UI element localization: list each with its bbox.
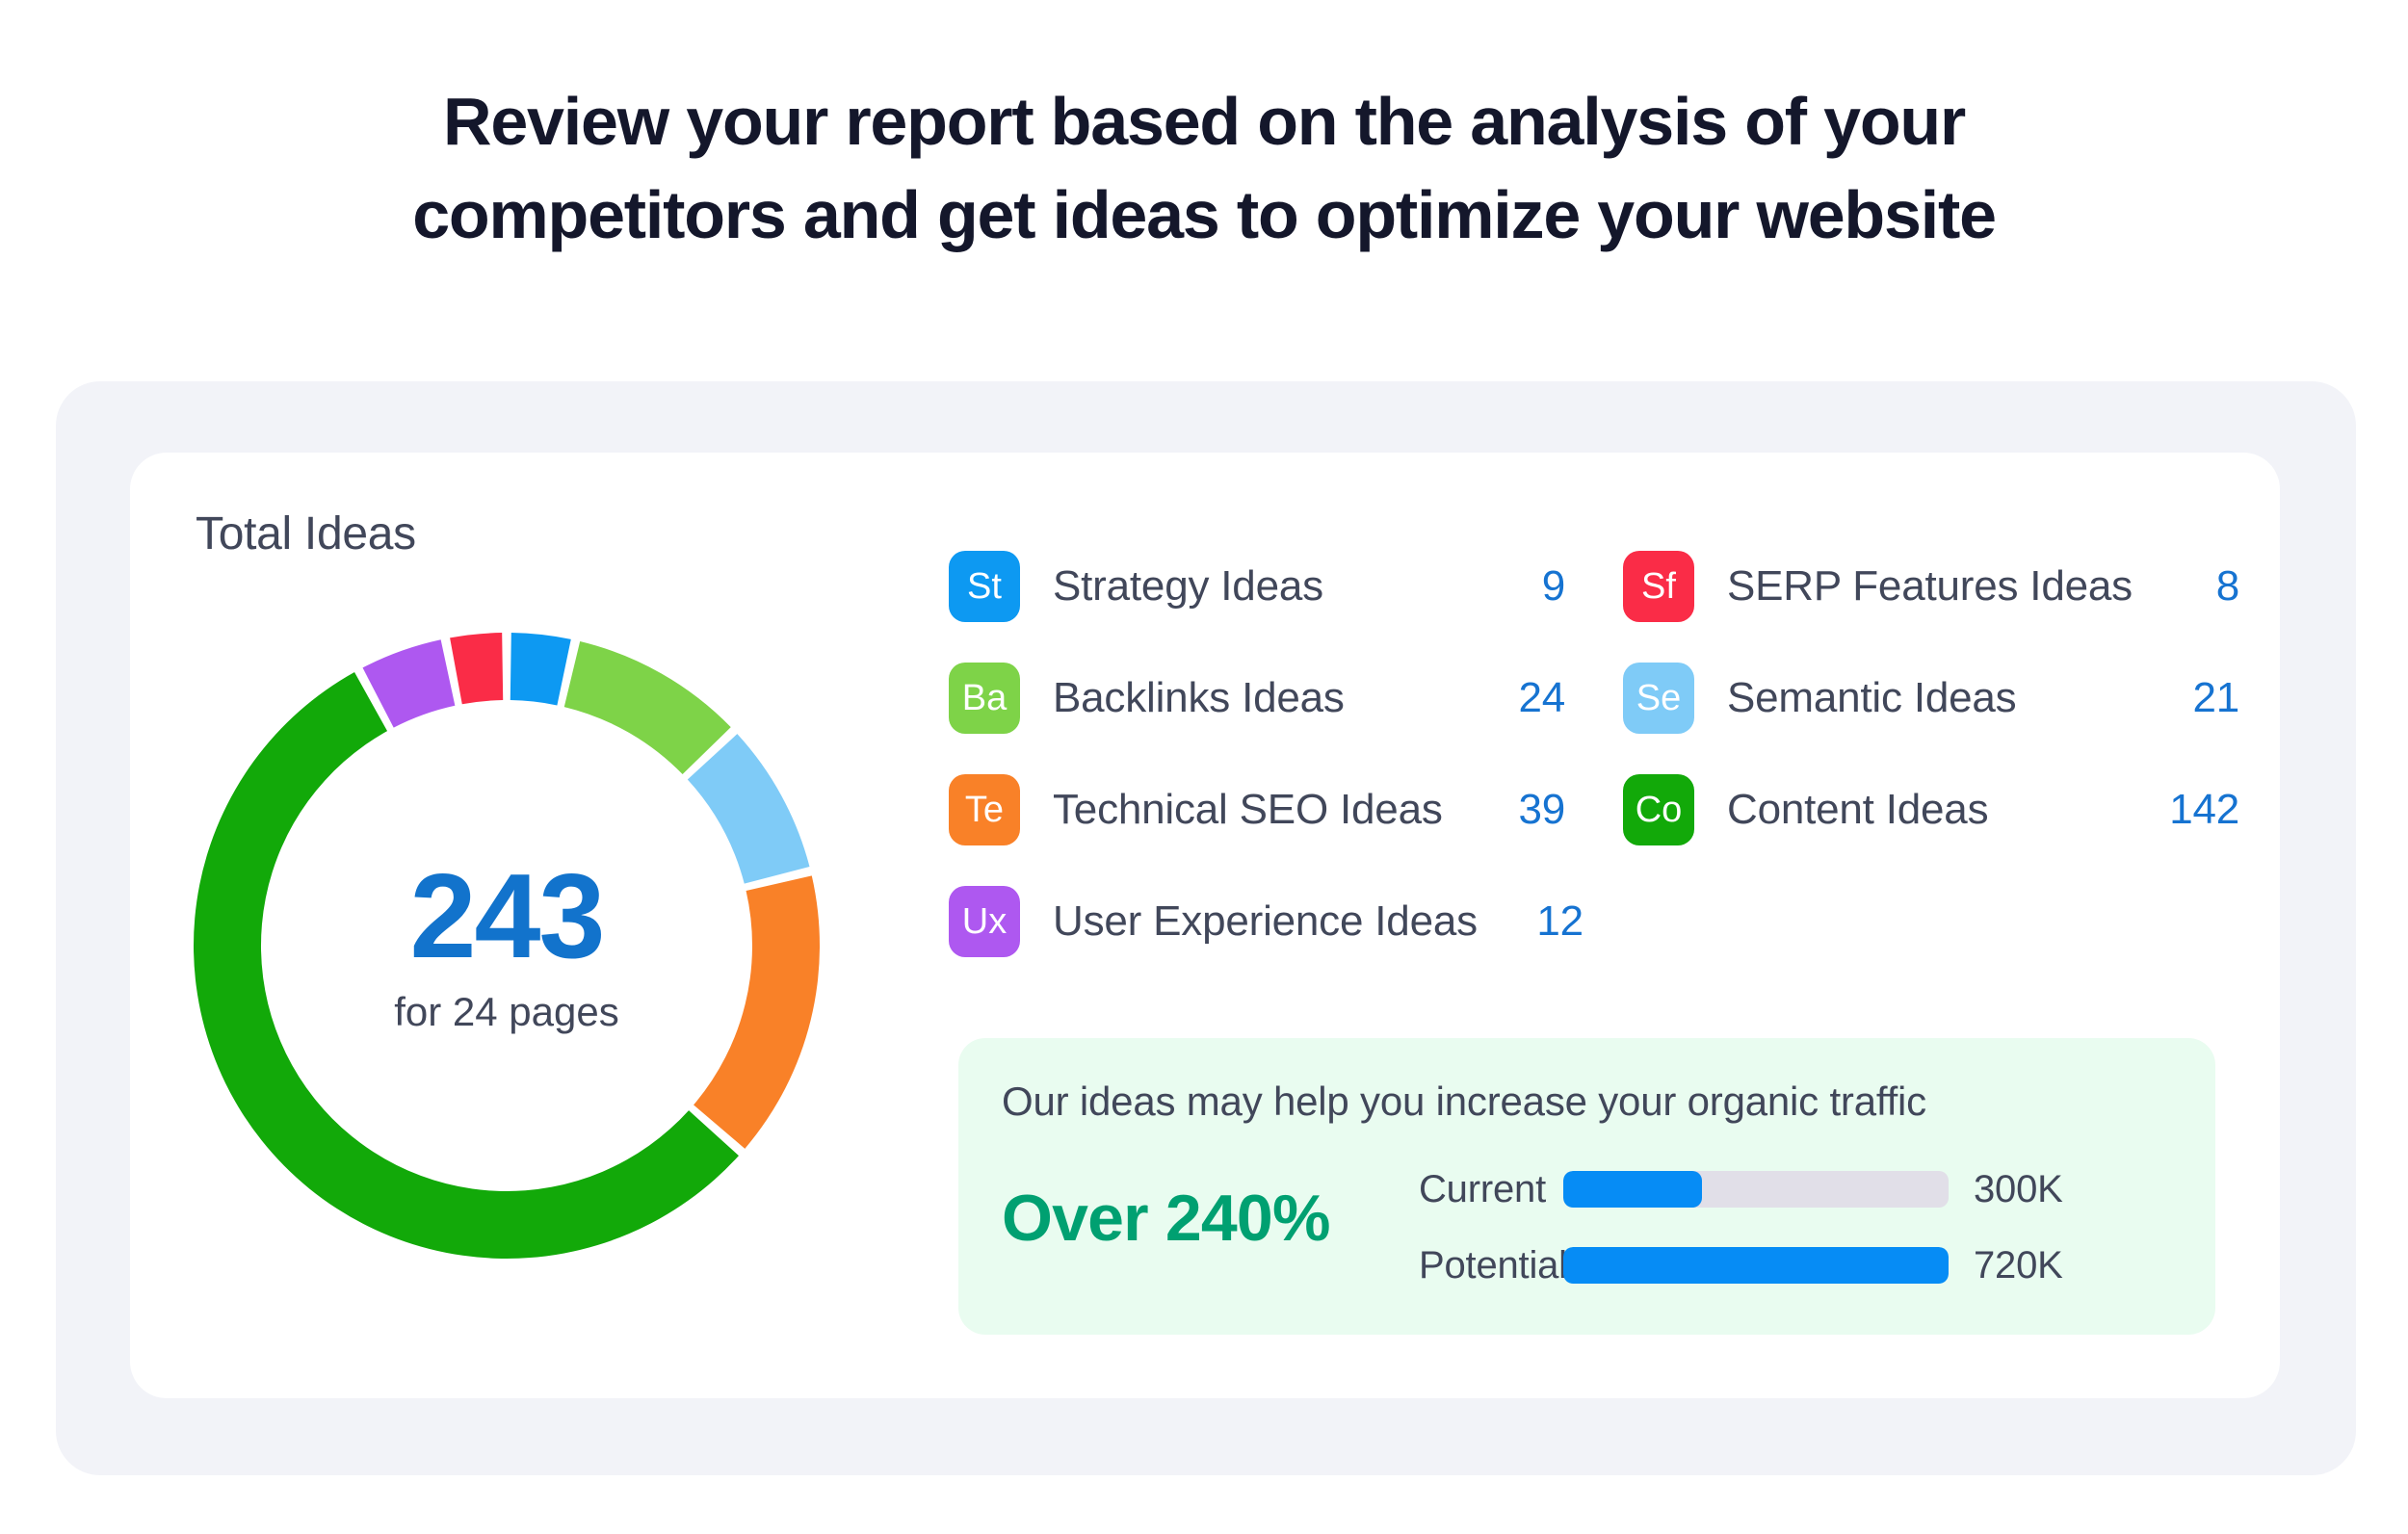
legend-label: Backlinks Ideas xyxy=(1053,674,1459,722)
page-title-line-1: Review your report based on the analysis… xyxy=(0,75,2408,169)
legend-row[interactable]: SfSERP Features Ideas8 xyxy=(1623,551,2239,622)
legend-badge-ba-icon: Ba xyxy=(949,663,1020,734)
legend-value: 8 xyxy=(2133,562,2239,611)
legend-row[interactable]: StStrategy Ideas9 xyxy=(949,551,1565,622)
donut-total-value: 243 xyxy=(410,856,604,977)
organic-traffic-panel: Our ideas may help you increase your org… xyxy=(958,1038,2215,1335)
legend-label: Strategy Ideas xyxy=(1053,562,1459,611)
legend-value: 24 xyxy=(1459,674,1565,722)
legend-row[interactable]: TeTechnical SEO Ideas39 xyxy=(949,774,1565,845)
donut-total-subtitle: for 24 pages xyxy=(394,989,619,1035)
traffic-bar-value: 720K xyxy=(1974,1244,2063,1287)
legend-value: 142 xyxy=(2133,786,2239,834)
legend-value: 39 xyxy=(1459,786,1565,834)
total-ideas-title: Total Ideas xyxy=(196,507,416,560)
legend-badge-sf-icon: Sf xyxy=(1623,551,1694,622)
traffic-bar-value: 300K xyxy=(1974,1168,2063,1211)
legend-label: Semantic Ideas xyxy=(1727,674,2133,722)
organic-traffic-bars: Current300KPotential720K xyxy=(1419,1165,2180,1289)
legend-label: SERP Features Ideas xyxy=(1727,562,2133,611)
organic-traffic-heading: Our ideas may help you increase your org… xyxy=(1002,1079,1926,1125)
traffic-bar-track xyxy=(1563,1171,1949,1208)
legend-badge-te-icon: Te xyxy=(949,774,1020,845)
donut-center-label: 243 for 24 pages xyxy=(189,628,824,1263)
traffic-bar-row: Potential720K xyxy=(1419,1241,2180,1289)
legend-row[interactable]: UxUser Experience Ideas12 xyxy=(949,886,1565,957)
organic-traffic-percent: Over 240% xyxy=(1002,1181,1330,1256)
traffic-bar-fill xyxy=(1563,1247,1949,1284)
total-ideas-donut-chart: 243 for 24 pages xyxy=(189,628,824,1263)
legend-label: Technical SEO Ideas xyxy=(1053,786,1459,834)
page-title: Review your report based on the analysis… xyxy=(0,75,2408,262)
legend-badge-st-icon: St xyxy=(949,551,1020,622)
ideas-legend: StStrategy Ideas9BaBacklinks Ideas24TeTe… xyxy=(949,551,2278,975)
traffic-bar-label: Potential xyxy=(1419,1244,1563,1287)
legend-row[interactable]: BaBacklinks Ideas24 xyxy=(949,663,1565,734)
legend-badge-ux-icon: Ux xyxy=(949,886,1020,957)
legend-row[interactable]: CoContent Ideas142 xyxy=(1623,774,2239,845)
legend-label: User Experience Ideas xyxy=(1053,897,1478,946)
legend-value: 21 xyxy=(2133,674,2239,722)
ideas-legend-column-right: SfSERP Features Ideas8SeSemantic Ideas21… xyxy=(1623,551,2239,886)
page-root: Review your report based on the analysis… xyxy=(0,0,2408,1534)
legend-value: 12 xyxy=(1478,897,1584,946)
legend-row[interactable]: SeSemantic Ideas21 xyxy=(1623,663,2239,734)
traffic-bar-row: Current300K xyxy=(1419,1165,2180,1213)
legend-badge-co-icon: Co xyxy=(1623,774,1694,845)
traffic-bar-track xyxy=(1563,1247,1949,1284)
legend-value: 9 xyxy=(1459,562,1565,611)
legend-badge-se-icon: Se xyxy=(1623,663,1694,734)
page-title-line-2: competitors and get ideas to optimize yo… xyxy=(0,169,2408,262)
ideas-legend-column-left: StStrategy Ideas9BaBacklinks Ideas24TeTe… xyxy=(949,551,1565,998)
legend-label: Content Ideas xyxy=(1727,786,2133,834)
traffic-bar-fill xyxy=(1563,1171,1702,1208)
traffic-bar-label: Current xyxy=(1419,1168,1563,1211)
